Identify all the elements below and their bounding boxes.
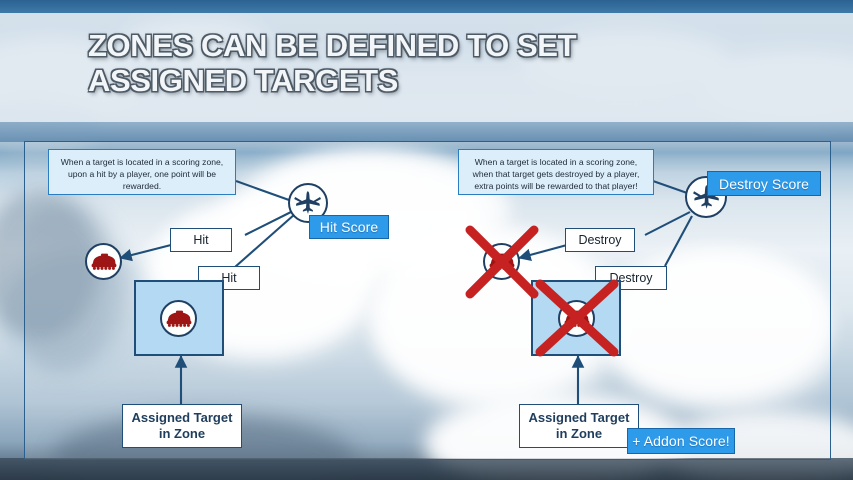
- left-standalone-target-circle: [85, 243, 122, 280]
- line-info-to-plane-left: [236, 181, 289, 200]
- red-cross-icon: [532, 278, 622, 358]
- left-callout-line-2: in Zone: [132, 426, 233, 442]
- left-zone-target-circle: [160, 300, 197, 337]
- destroy-score-badge[interactable]: Destroy Score: [707, 171, 821, 196]
- tank-target-icon: [165, 310, 193, 328]
- hit-score-badge[interactable]: Hit Score: [309, 215, 389, 239]
- left-assigned-target-callout: Assigned Target in Zone: [122, 404, 242, 448]
- arrow-hit-upper-to-target: [120, 245, 171, 258]
- fighter-jet-icon: [293, 190, 323, 216]
- left-callout-line-1: Assigned Target: [132, 410, 233, 426]
- line-plane-to-hit-lower: [235, 214, 295, 267]
- destroy-label-upper: Destroy: [565, 228, 635, 252]
- right-assigned-target-callout: Assigned Target in Zone: [519, 404, 639, 448]
- right-callout-line-2: in Zone: [529, 426, 630, 442]
- tank-target-icon: [90, 253, 118, 271]
- right-callout-line-1: Assigned Target: [529, 410, 630, 426]
- addon-score-badge[interactable]: + Addon Score!: [627, 428, 735, 454]
- slide-canvas: ZONES CAN BE DEFINED TO SET ASSIGNED TAR…: [0, 0, 853, 480]
- left-info-box: When a target is located in a scoring zo…: [48, 149, 236, 195]
- hit-label-upper: Hit: [170, 228, 232, 252]
- right-info-box: When a target is located in a scoring zo…: [458, 149, 654, 195]
